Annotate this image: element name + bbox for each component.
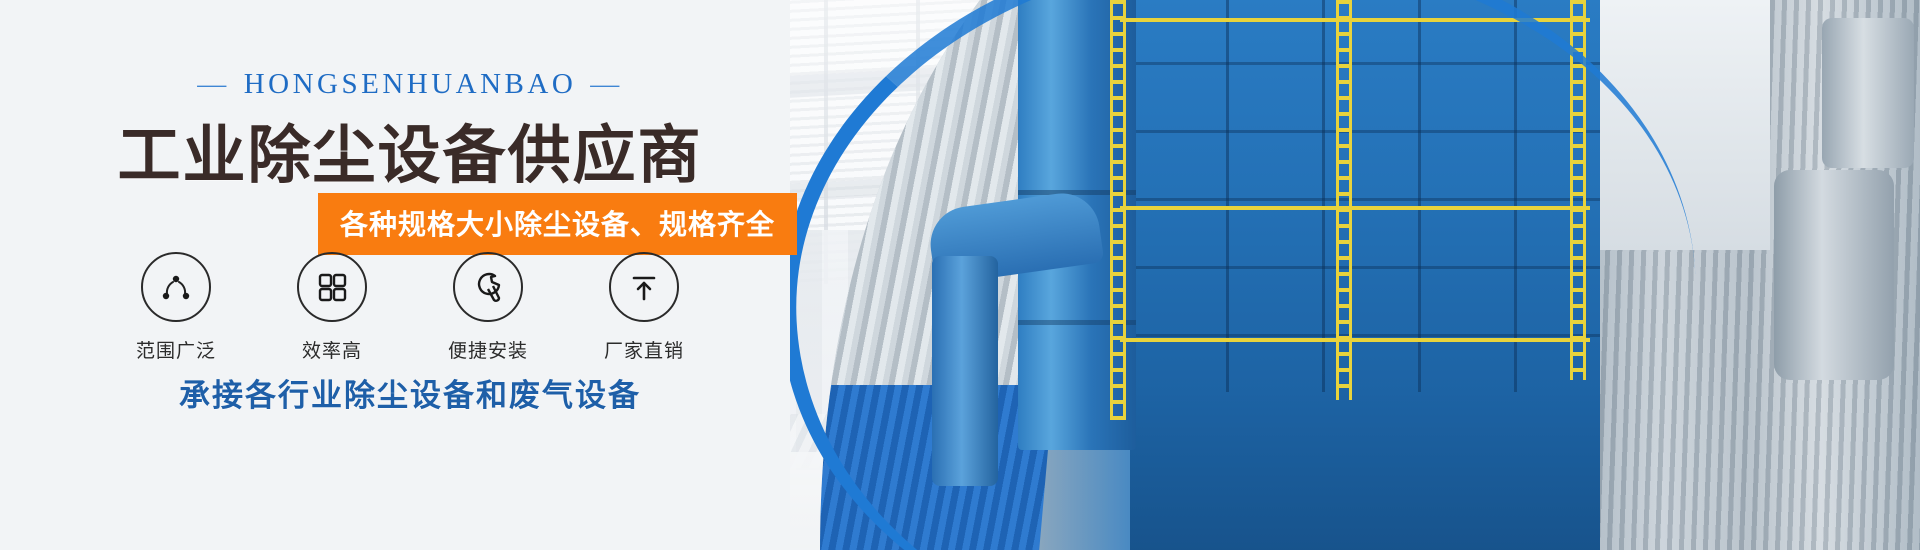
feature-list: 范围广泛 效率高 [0, 252, 820, 363]
cyclone-vessel-upper [1822, 18, 1914, 168]
yellow-railing-top [1120, 18, 1590, 22]
feature-item-installation[interactable]: 便捷安装 [433, 252, 543, 363]
page-title: 工业除尘设备供应商 [0, 105, 820, 196]
yellow-railing-mid [1120, 206, 1590, 210]
background-photo-right [780, 0, 1920, 550]
blue-corrugated-base [788, 385, 1053, 550]
yellow-ladder-right [1570, 0, 1586, 380]
white-building [1580, 0, 1770, 250]
baghouse-support-frame [1130, 392, 1600, 550]
tagline: 承接各行业除尘设备和废气设备 [0, 370, 820, 415]
feature-label: 效率高 [277, 336, 387, 363]
feature-item-direct-sales[interactable]: 厂家直销 [589, 252, 699, 363]
yellow-ladder-left [1110, 0, 1126, 420]
yellow-railing-low [1120, 338, 1590, 342]
promo-banner: —HONGSENHUANBAO— 工业除尘设备供应商 各种规格大小除尘设备、规格… [0, 0, 1920, 550]
cyclone-vessel [1774, 170, 1894, 380]
dash-left: — [197, 68, 230, 101]
feature-icon-circle [141, 252, 211, 322]
brand-name-latin: —HONGSENHUANBAO— [0, 68, 820, 101]
feature-item-coverage[interactable]: 范围广泛 [121, 252, 231, 363]
feature-icon-circle [609, 252, 679, 322]
feature-icon-circle [297, 252, 367, 322]
feature-label: 便捷安装 [433, 336, 543, 363]
brand-name-latin-text: HONGSENHUANBAO [244, 68, 577, 100]
dash-right: — [590, 68, 623, 101]
feature-label: 范围广泛 [121, 336, 231, 363]
duct-downpipe [932, 256, 998, 486]
feature-icon-circle [453, 252, 523, 322]
feature-item-efficiency[interactable]: 效率高 [277, 252, 387, 363]
baghouse-panel-seams [1130, 0, 1600, 394]
upload-arrow-icon [625, 268, 663, 306]
share-nodes-icon [156, 267, 196, 307]
feature-label: 厂家直销 [589, 336, 699, 363]
wrench-icon [468, 267, 508, 307]
subtitle-badge: 各种规格大小除尘设备、规格齐全 [318, 193, 797, 255]
plant-scene [780, 0, 1920, 550]
grid-squares-icon [313, 268, 351, 306]
banner-content: —HONGSENHUANBAO— 工业除尘设备供应商 各种规格大小除尘设备、规格… [0, 0, 820, 550]
